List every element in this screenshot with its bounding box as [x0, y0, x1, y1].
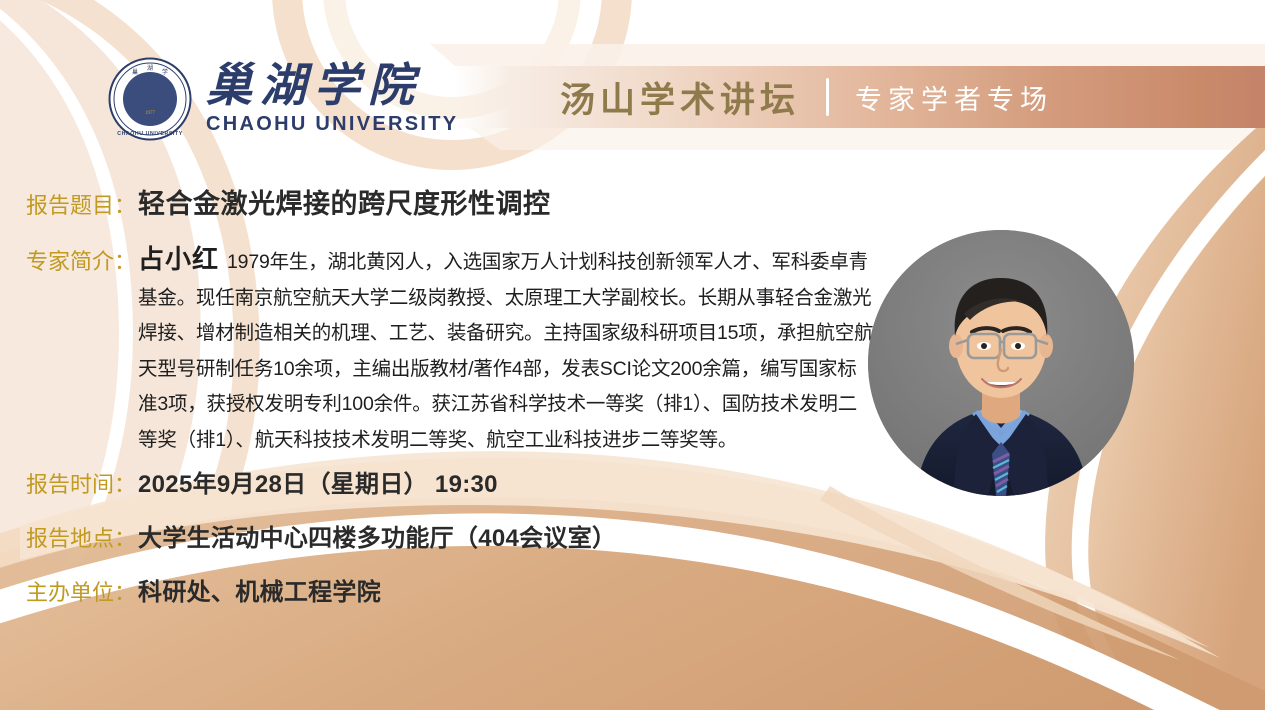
svg-text:湖: 湖	[147, 64, 153, 72]
lecture-place-label: 报告地点：	[26, 521, 136, 553]
svg-text:1977: 1977	[145, 111, 156, 116]
university-seal-icon: 1977 CHAOHU UNIVERSITY 巢湖学	[108, 57, 192, 141]
speaker-portrait	[868, 230, 1134, 496]
lecture-title-label: 报告题目：	[26, 188, 136, 220]
lecture-host-value: 科研处、机械工程学院	[138, 572, 381, 607]
bio-line: 焊接、增材制造相关的机理、工艺、装备研究。主持国家级科研项目15项，承担航空航	[138, 316, 878, 352]
university-logo: 1977 CHAOHU UNIVERSITY 巢湖学 巢湖学院 CHAOHU U…	[108, 57, 458, 141]
bio-line-text: 1979年生，湖北黄冈人，入选国家万人计划科技创新领军人才、军科委卓青	[227, 245, 868, 281]
speaker-bio-label: 专家简介：	[26, 242, 136, 276]
speaker-bio-body: 占小红 1979年生，湖北黄冈人，入选国家万人计划科技创新领军人才、军科委卓青 …	[138, 242, 878, 459]
lecture-host-row: 主办单位： 科研处、机械工程学院	[26, 572, 381, 607]
bio-line: 准3项，获授权发明专利100余件。获江苏省科学技术一等奖（排1）、国防技术发明二	[138, 387, 878, 423]
svg-text:巢: 巢	[132, 68, 138, 76]
speaker-bio-row: 专家简介： 占小红 1979年生，湖北黄冈人，入选国家万人计划科技创新领军人才、…	[26, 242, 886, 459]
lecture-time-value: 2025年9月28日（星期日） 19:30	[138, 464, 498, 499]
speaker-name: 占小红	[138, 242, 219, 278]
svg-text:CHAOHU UNIVERSITY: CHAOHU UNIVERSITY	[117, 131, 183, 137]
lecture-place-row: 报告地点： 大学生活动中心四楼多功能厅（404会议室）	[26, 518, 616, 553]
lecture-time-label: 报告时间：	[26, 467, 136, 499]
lecture-host-label: 主办单位：	[26, 575, 136, 607]
bio-line: 天型号研制任务10余项，主编出版教材/著作4部，发表SCI论文200余篇，编写国…	[138, 352, 878, 388]
lecture-title-row: 报告题目： 轻合金激光焊接的跨尺度形性调控	[26, 182, 551, 221]
svg-text:学: 学	[162, 68, 168, 76]
logo-name-cn: 巢湖学院	[206, 62, 422, 110]
poster-header: 1977 CHAOHU UNIVERSITY 巢湖学 巢湖学院 CHAOHU U…	[0, 0, 1265, 160]
banner-strip: 汤山学术讲坛 专家学者专场	[455, 66, 1265, 128]
banner-title: 汤山学术讲坛	[560, 72, 800, 123]
lecture-time-row: 报告时间： 2025年9月28日（星期日） 19:30	[26, 464, 498, 499]
logo-name-en: CHAOHU UNIVERSITY	[206, 113, 458, 136]
banner-divider	[826, 78, 829, 116]
poster-root: 1977 CHAOHU UNIVERSITY 巢湖学 巢湖学院 CHAOHU U…	[0, 0, 1265, 710]
bio-line: 占小红 1979年生，湖北黄冈人，入选国家万人计划科技创新领军人才、军科委卓青	[138, 242, 878, 281]
lecture-place-value: 大学生活动中心四楼多功能厅（404会议室）	[138, 518, 616, 553]
bio-line: 基金。现任南京航空航天大学二级岗教授、太原理工大学副校长。长期从事轻合金激光	[138, 281, 878, 317]
lecture-title-value: 轻合金激光焊接的跨尺度形性调控	[138, 182, 551, 221]
banner-subtitle: 专家学者专场	[855, 78, 1053, 117]
bio-line: 等奖（排1）、航天科技技术发明二等奖、航空工业科技进步二等奖等。	[138, 423, 878, 459]
